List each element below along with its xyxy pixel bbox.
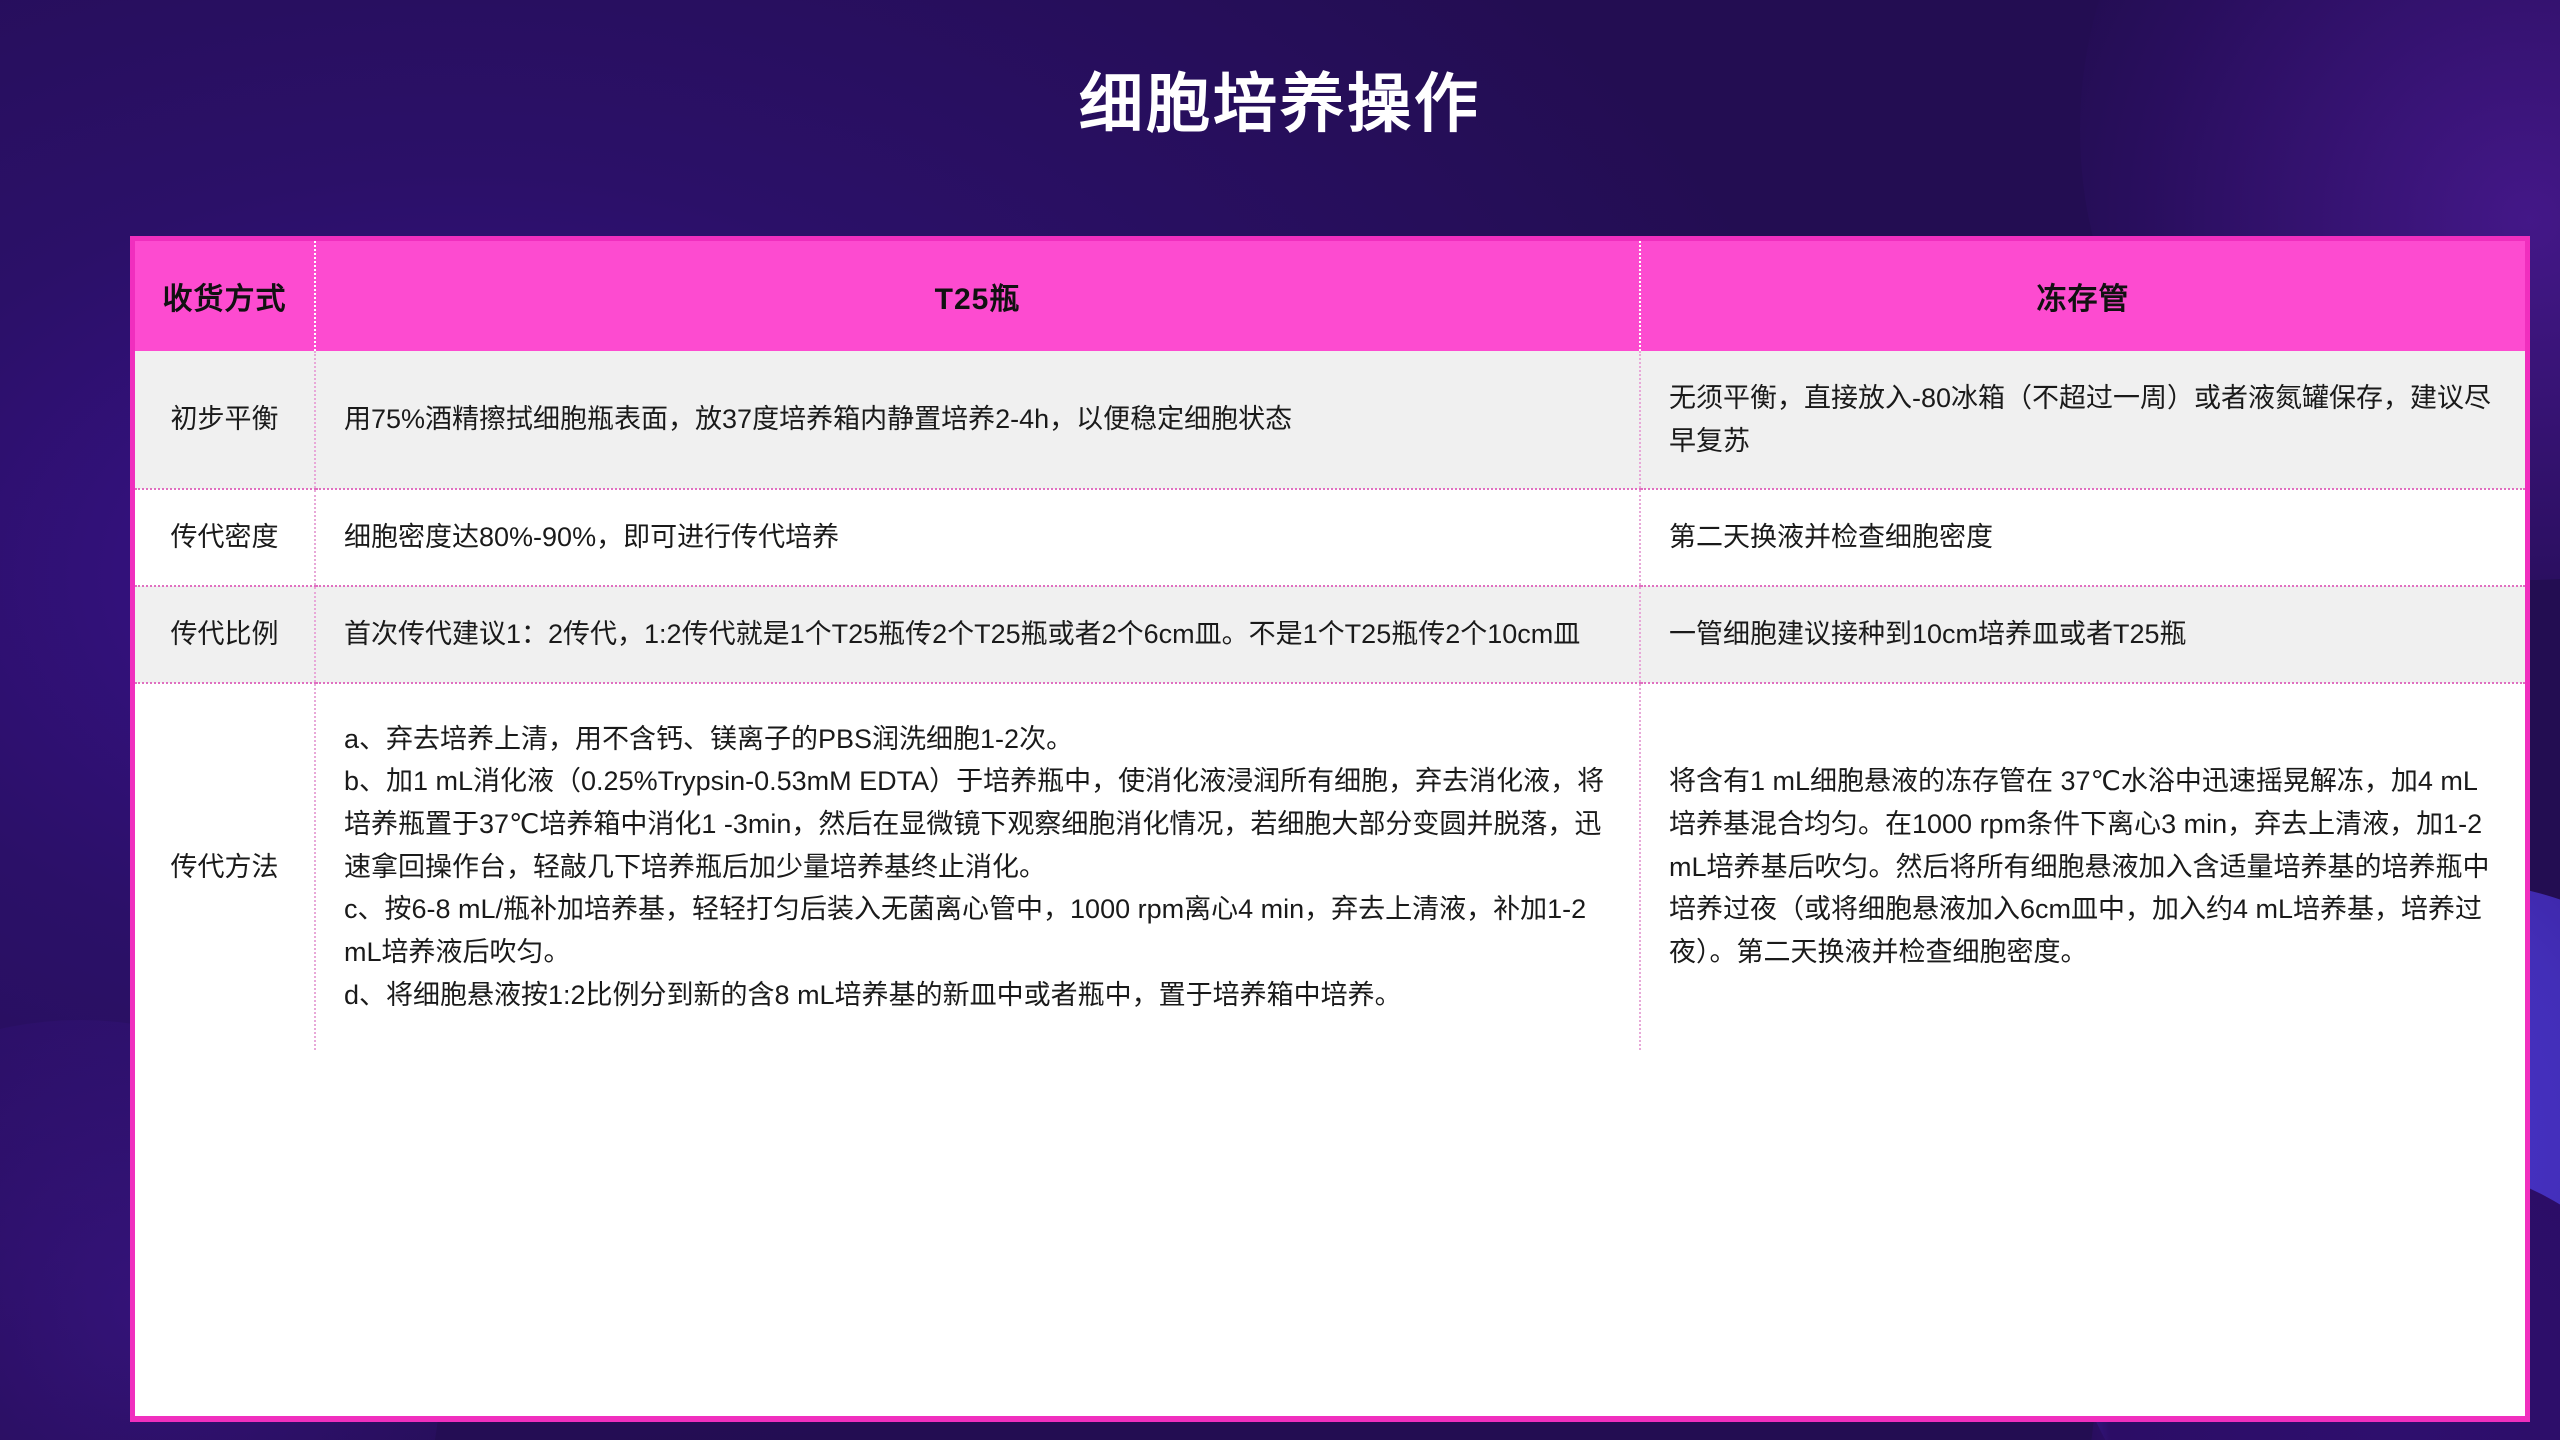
row-label-passage-method: 传代方法 xyxy=(135,683,315,1051)
column-header-method: 收货方式 xyxy=(135,241,315,351)
cell-cryovial-passage-method: 将含有1 mL细胞悬液的冻存管在 37℃水浴中迅速摇晃解冻，加4 mL培养基混合… xyxy=(1640,683,2525,1051)
cell-text: 一管细胞建议接种到10cm培养皿或者T25瓶 xyxy=(1669,619,2187,649)
cell-text: 第二天换液并检查细胞密度 xyxy=(1669,522,1993,552)
cell-culture-table: 收货方式 T25瓶 冻存管 初步平衡 用75%酒精擦拭细胞瓶表面，放37度培养箱… xyxy=(135,241,2525,1050)
cell-cryovial-passage-density: 第二天换液并检查细胞密度 xyxy=(1640,489,2525,586)
cell-text: 将含有1 mL细胞悬液的冻存管在 37℃水浴中迅速摇晃解冻，加4 mL培养基混合… xyxy=(1669,766,2490,967)
table-header: 收货方式 T25瓶 冻存管 xyxy=(135,241,2525,351)
cell-text: 细胞密度达80%-90%，即可进行传代培养 xyxy=(344,522,839,552)
cell-text: 用75%酒精擦拭细胞瓶表面，放37度培养箱内静置培养2-4h，以便稳定细胞状态 xyxy=(344,404,1292,434)
table-row: 初步平衡 用75%酒精擦拭细胞瓶表面，放37度培养箱内静置培养2-4h，以便稳定… xyxy=(135,351,2525,489)
column-header-cryovial: 冻存管 xyxy=(1640,241,2525,351)
cell-cryovial-initial-equilibration: 无须平衡，直接放入-80冰箱（不超过一周）或者液氮罐保存，建议尽早复苏 xyxy=(1640,351,2525,489)
cell-cryovial-passage-ratio: 一管细胞建议接种到10cm培养皿或者T25瓶 xyxy=(1640,586,2525,683)
header-row: 收货方式 T25瓶 冻存管 xyxy=(135,241,2525,351)
column-header-t25-flask: T25瓶 xyxy=(315,241,1640,351)
row-label-passage-ratio: 传代比例 xyxy=(135,586,315,683)
cell-t25-passage-ratio: 首次传代建议1：2传代，1:2传代就是1个T25瓶传2个T25瓶或者2个6cm皿… xyxy=(315,586,1640,683)
cell-text: 首次传代建议1：2传代，1:2传代就是1个T25瓶传2个T25瓶或者2个6cm皿… xyxy=(344,619,1580,649)
cell-text: 无须平衡，直接放入-80冰箱（不超过一周）或者液氮罐保存，建议尽早复苏 xyxy=(1669,383,2491,456)
table-container: 收货方式 T25瓶 冻存管 初步平衡 用75%酒精擦拭细胞瓶表面，放37度培养箱… xyxy=(130,236,2530,1422)
table-row: 传代密度 细胞密度达80%-90%，即可进行传代培养 第二天换液并检查细胞密度 xyxy=(135,489,2525,586)
cell-t25-passage-method: a、弃去培养上清，用不含钙、镁离子的PBS润洗细胞1-2次。 b、加1 mL消化… xyxy=(315,683,1640,1051)
cell-text: a、弃去培养上清，用不含钙、镁离子的PBS润洗细胞1-2次。 b、加1 mL消化… xyxy=(344,724,1604,1010)
cell-t25-initial-equilibration: 用75%酒精擦拭细胞瓶表面，放37度培养箱内静置培养2-4h，以便稳定细胞状态 xyxy=(315,351,1640,489)
table-row: 传代比例 首次传代建议1：2传代，1:2传代就是1个T25瓶传2个T25瓶或者2… xyxy=(135,586,2525,683)
table-row: 传代方法 a、弃去培养上清，用不含钙、镁离子的PBS润洗细胞1-2次。 b、加1… xyxy=(135,683,2525,1051)
row-label-initial-equilibration: 初步平衡 xyxy=(135,351,315,489)
row-label-passage-density: 传代密度 xyxy=(135,489,315,586)
page-title: 细胞培养操作 xyxy=(0,72,2560,136)
table-body: 初步平衡 用75%酒精擦拭细胞瓶表面，放37度培养箱内静置培养2-4h，以便稳定… xyxy=(135,351,2525,1050)
cell-t25-passage-density: 细胞密度达80%-90%，即可进行传代培养 xyxy=(315,489,1640,586)
